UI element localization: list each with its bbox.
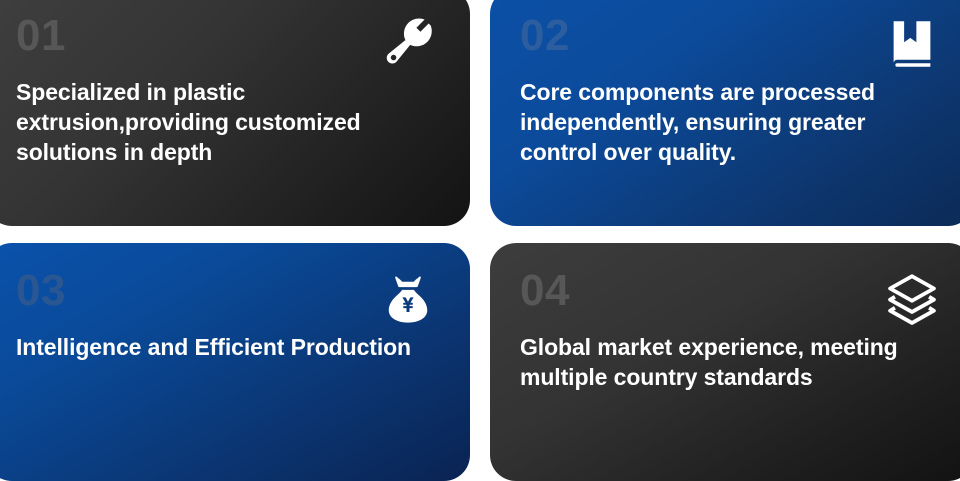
- card-description: Specialized in plastic extrusion,providi…: [16, 78, 416, 168]
- card-description: Core components are processed independen…: [520, 78, 920, 168]
- card-number: 04: [520, 269, 944, 313]
- feature-card-04[interactable]: 04 Global market experience, meeting mul…: [490, 243, 960, 481]
- feature-card-02-inner: 02 Core components are processed indepen…: [520, 14, 944, 202]
- feature-card-grid: 01 Specialized in plastic extrusion,prov…: [0, 0, 960, 459]
- card-description: Global market experience, meeting multip…: [520, 333, 920, 393]
- feature-card-01-inner: 01 Specialized in plastic extrusion,prov…: [16, 14, 440, 202]
- feature-card-04-inner: 04 Global market experience, meeting mul…: [520, 269, 944, 457]
- money-bag-yen-icon: [380, 271, 436, 327]
- feature-card-03[interactable]: 03 Intelligence and Efficient Production: [0, 243, 470, 481]
- card-number: 03: [16, 269, 440, 313]
- feature-card-02[interactable]: 02 Core components are processed indepen…: [490, 0, 960, 226]
- layers-stack-icon: [884, 271, 940, 327]
- feature-card-01[interactable]: 01 Specialized in plastic extrusion,prov…: [0, 0, 470, 226]
- card-number: 01: [16, 14, 440, 58]
- card-description: Intelligence and Efficient Production: [16, 333, 416, 363]
- wrench-icon: [380, 16, 436, 72]
- book-bookmark-icon: [884, 16, 940, 72]
- card-number: 02: [520, 14, 944, 58]
- feature-card-03-inner: 03 Intelligence and Efficient Production: [16, 269, 440, 457]
